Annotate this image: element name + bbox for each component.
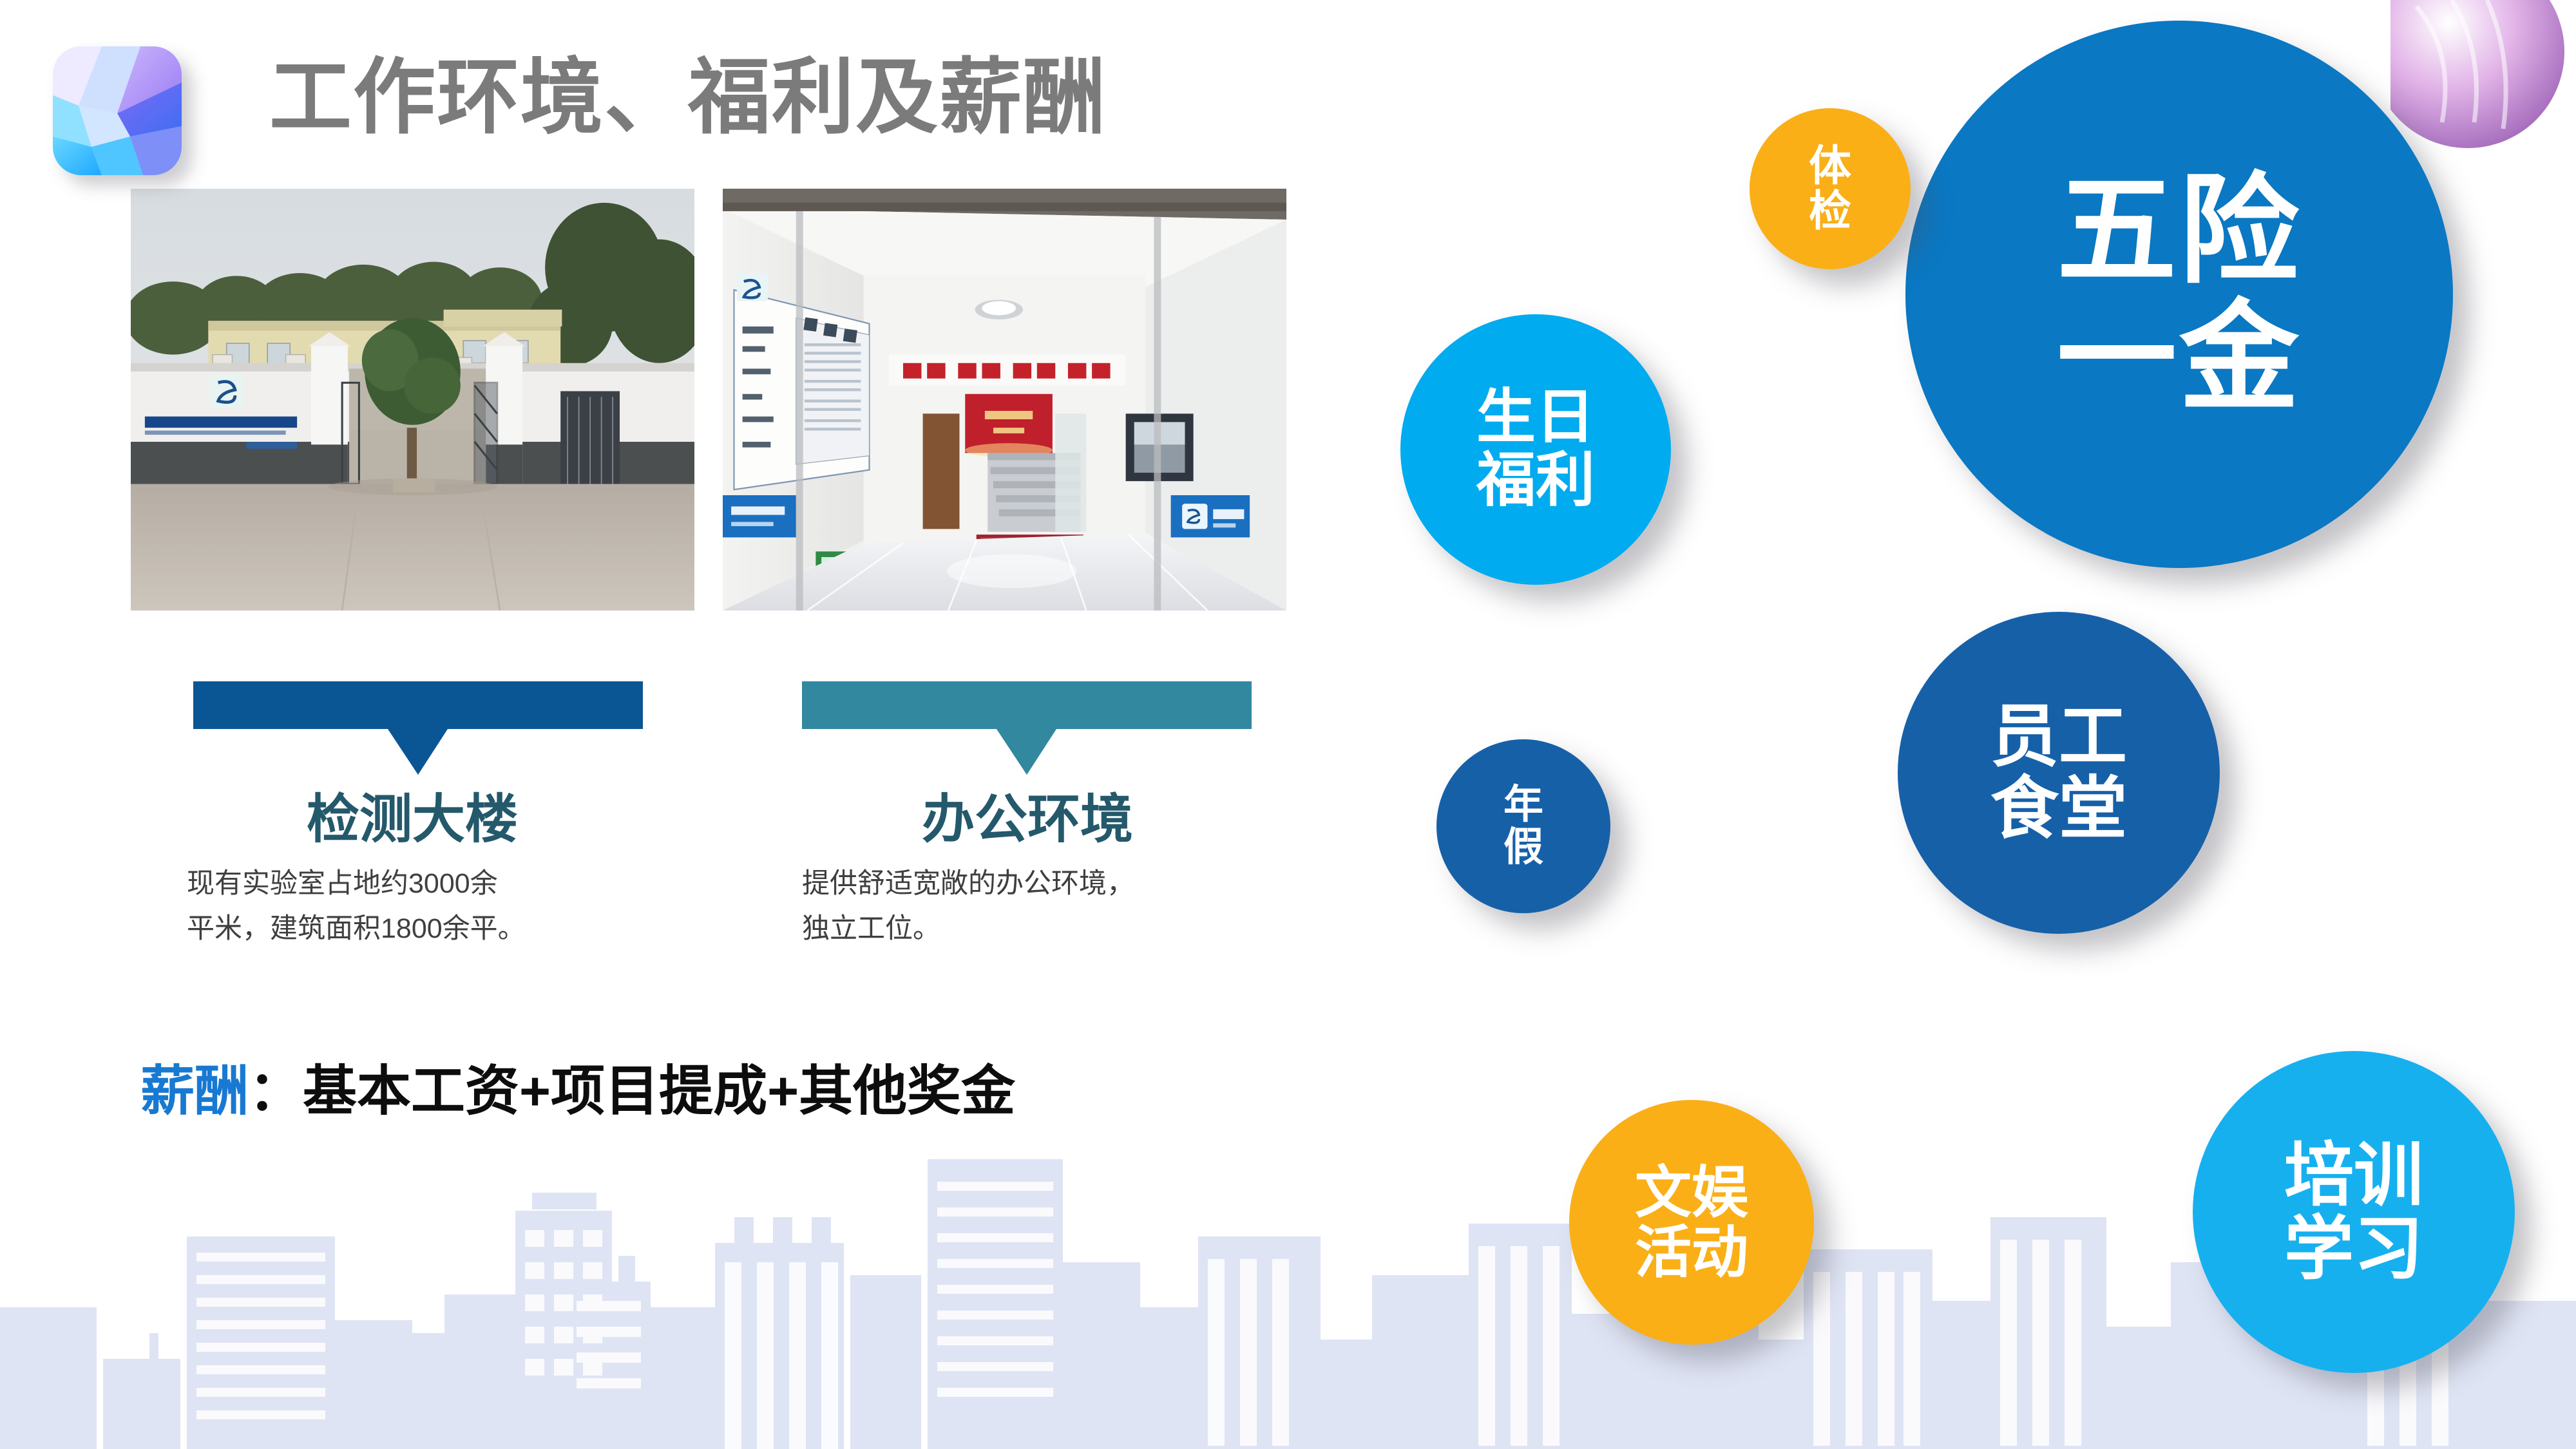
detection-building-photo xyxy=(131,189,694,611)
caption-line: 独立工位。 xyxy=(802,907,1253,952)
bubble-line: 活动 xyxy=(1635,1222,1748,1282)
pink-sphere-decor xyxy=(2390,0,2576,155)
bubble-line: 生日 xyxy=(1476,386,1595,450)
caption-title: 办公环境 xyxy=(802,792,1253,848)
office-environment-banner xyxy=(802,681,1252,775)
caption-line: 提供舒适宽敞的办公环境， xyxy=(802,862,1253,907)
salary-statement: 薪酬：基本工资+项目提成+其他奖金 xyxy=(140,1061,1015,1121)
benefit-bubble-training-learning[interactable]: 培训 学习 xyxy=(2193,1051,2515,1373)
benefit-bubble-annual-leave[interactable]: 年 假 xyxy=(1436,739,1610,913)
bubble-line: 学习 xyxy=(2284,1212,2423,1285)
caption-office-environment: 办公环境 提供舒适宽敞的办公环境， 独立工位。 xyxy=(802,792,1253,951)
benefit-bubble-birthday[interactable]: 生日 福利 xyxy=(1400,314,1671,585)
benefit-bubble-health-checkup[interactable]: 体 检 xyxy=(1750,108,1911,269)
benefit-bubble-staff-canteen[interactable]: 员工 食堂 xyxy=(1898,612,2220,934)
benefit-bubble-five-insurance[interactable]: 五险 一金 xyxy=(1905,21,2453,568)
salary-value: 基本工资+项目提成+其他奖金 xyxy=(303,1061,1015,1121)
office-lobby-photo xyxy=(723,189,1286,611)
bubble-line: 检 xyxy=(1809,189,1851,234)
gem-crystal-icon xyxy=(53,46,182,175)
caption-line: 平米，建筑面积1800余平。 xyxy=(187,907,638,952)
bubble-line: 五险 xyxy=(2057,167,2302,294)
caption-body: 提供舒适宽敞的办公环境， 独立工位。 xyxy=(802,862,1253,951)
salary-label: 薪酬 xyxy=(140,1061,249,1121)
caption-detection-building: 检测大楼 现有实验室占地约3000余 平米，建筑面积1800余平。 xyxy=(187,792,638,951)
salary-separator: ： xyxy=(249,1061,303,1121)
bubble-line: 培训 xyxy=(2284,1139,2423,1212)
bubble-line: 福利 xyxy=(1476,450,1595,513)
caption-body: 现有实验室占地约3000余 平米，建筑面积1800余平。 xyxy=(187,862,638,951)
bubble-line: 体 xyxy=(1809,144,1851,189)
bubble-line: 员工 xyxy=(1990,701,2127,773)
city-skyline-decor xyxy=(0,1146,2576,1449)
benefit-bubble-cultural-activities[interactable]: 文娱 活动 xyxy=(1569,1100,1814,1345)
slide-canvas: 工作环境、福利及薪酬 xyxy=(0,0,2576,1449)
caption-title: 检测大楼 xyxy=(187,792,638,848)
bubble-line: 假 xyxy=(1503,826,1543,869)
page-title: 工作环境、福利及薪酬 xyxy=(269,50,1107,145)
bubble-line: 文娱 xyxy=(1635,1162,1748,1222)
detection-building-banner xyxy=(193,681,643,775)
bubble-line: 食堂 xyxy=(1990,773,2127,845)
bubble-line: 一金 xyxy=(2057,294,2302,421)
bubble-line: 年 xyxy=(1503,784,1543,826)
caption-line: 现有实验室占地约3000余 xyxy=(187,862,638,907)
